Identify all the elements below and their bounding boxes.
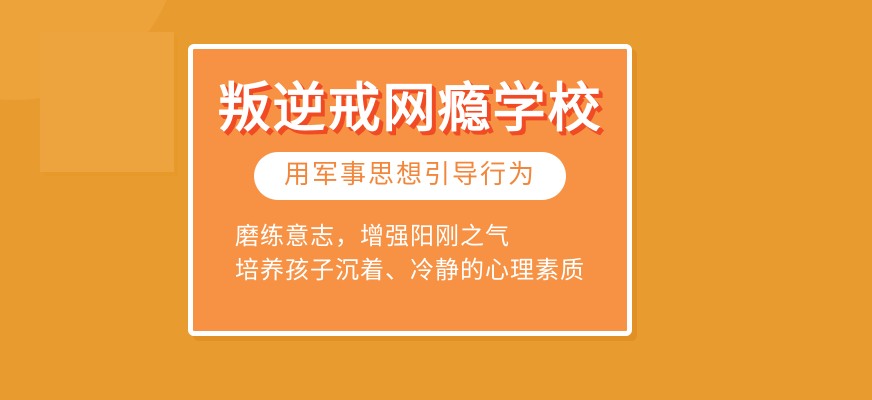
promo-banner: 叛逆戒网瘾学校 用军事思想引导行为 磨练意志，增强阳刚之气 培养孩子沉着、冷静的…: [0, 0, 872, 400]
background-block-decoration: [40, 32, 174, 172]
description-line-2: 培养孩子沉着、冷静的心理素质: [235, 254, 585, 288]
page-title: 叛逆戒网瘾学校: [218, 82, 603, 135]
promo-card: 叛逆戒网瘾学校 用军事思想引导行为 磨练意志，增强阳刚之气 培养孩子沉着、冷静的…: [188, 44, 632, 336]
description-line-1: 磨练意志，增强阳刚之气: [235, 220, 585, 254]
tagline-pill: 用军事思想引导行为: [254, 152, 566, 200]
description-block: 磨练意志，增强阳刚之气 培养孩子沉着、冷静的心理素质: [235, 220, 585, 288]
